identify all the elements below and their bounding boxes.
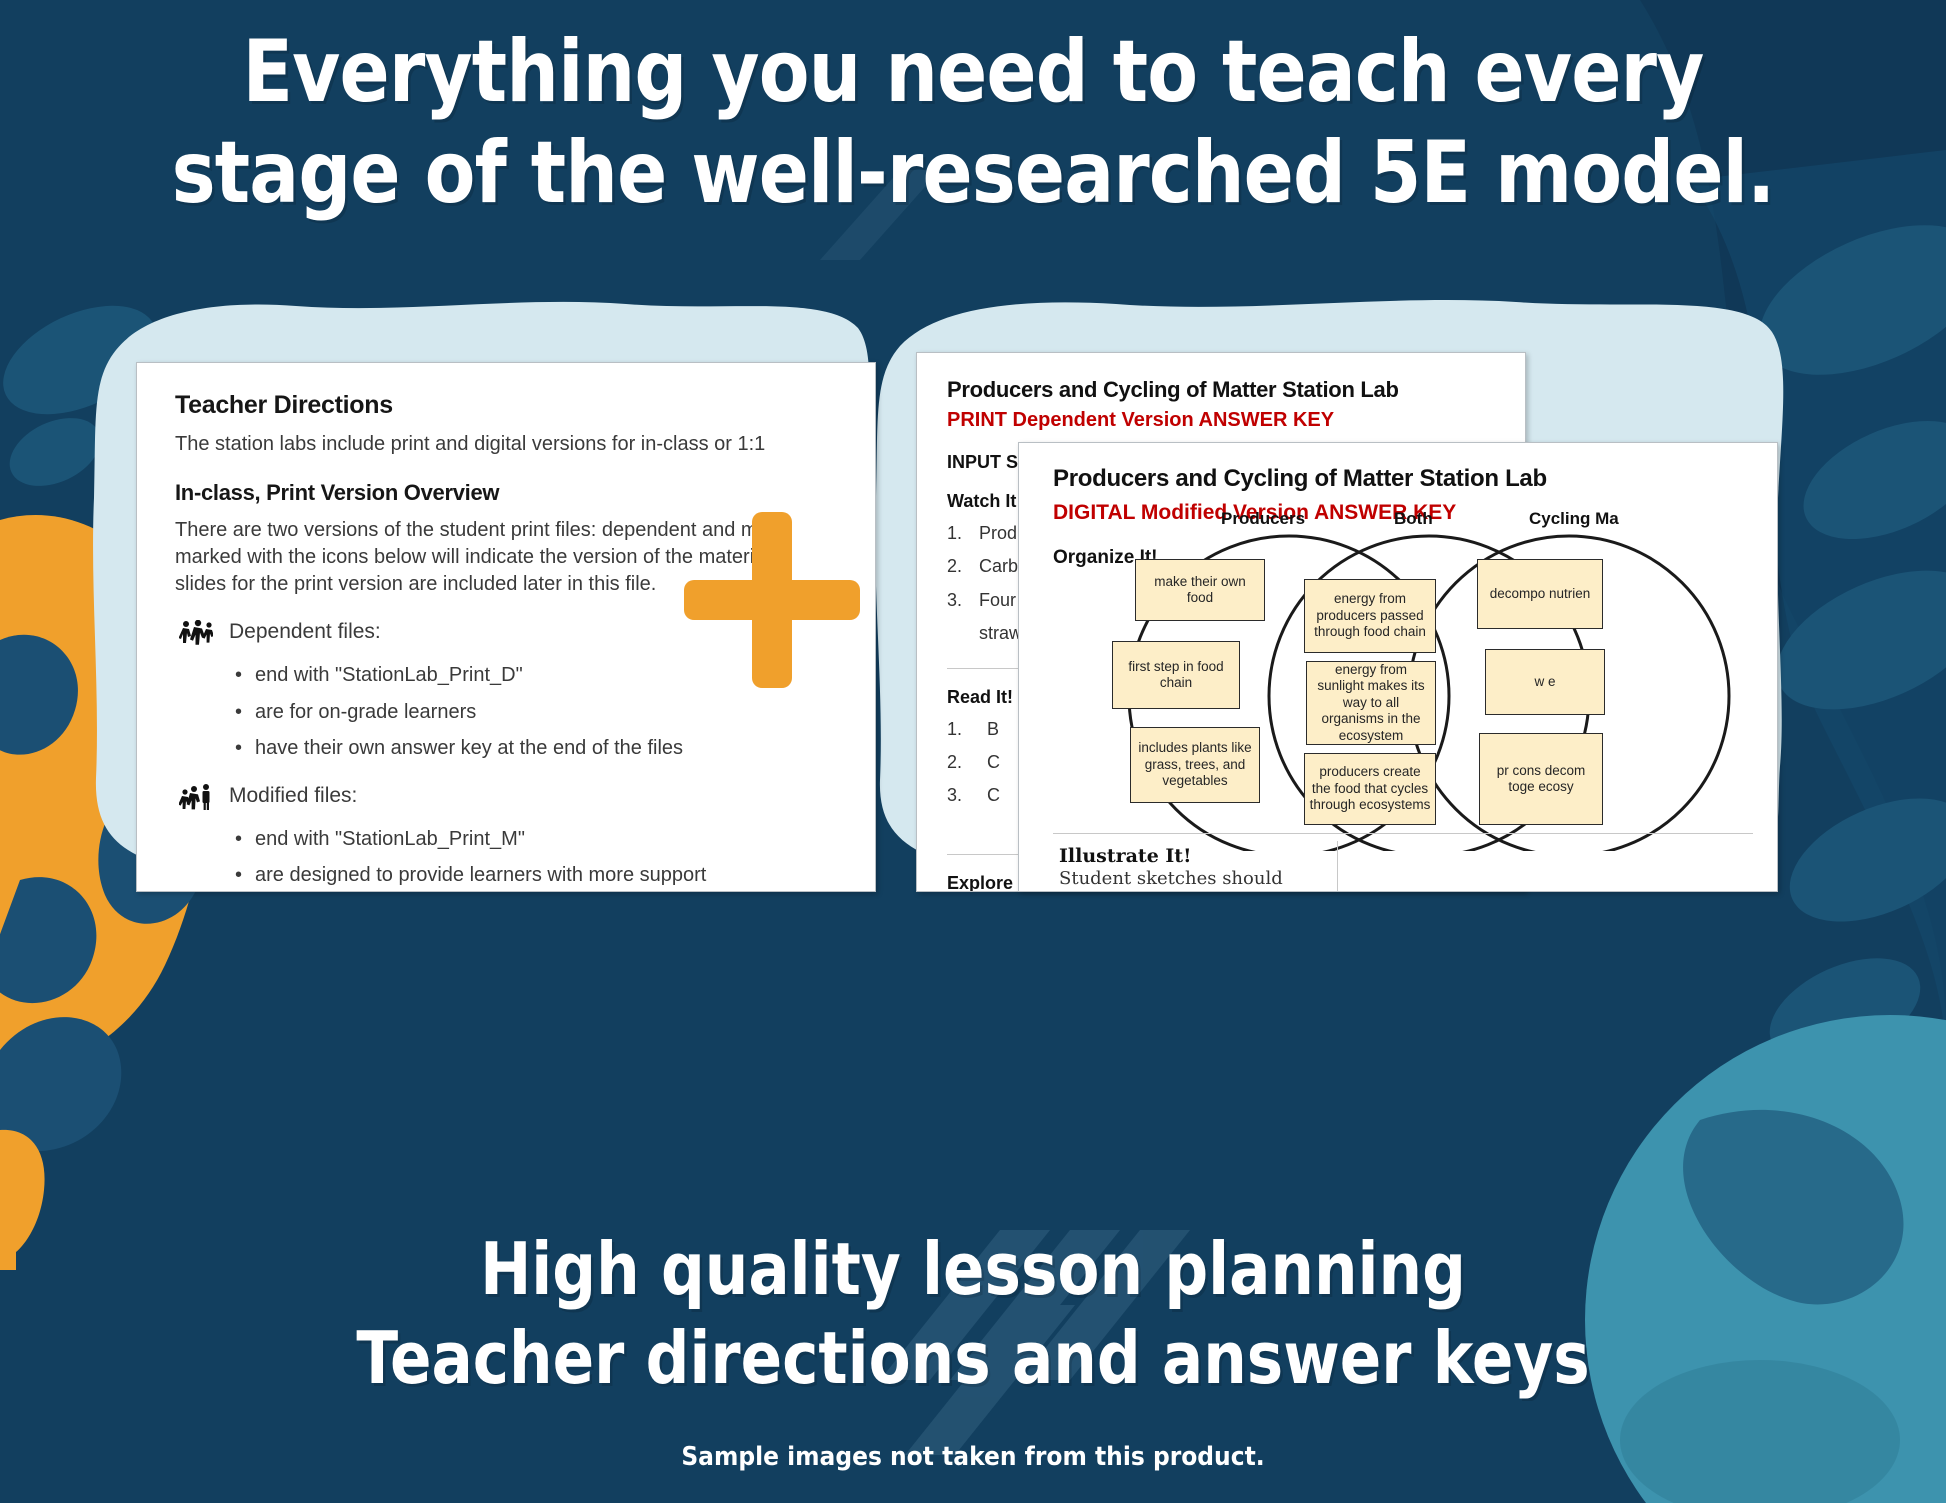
venn-box: decompo nutrien bbox=[1477, 559, 1603, 629]
venn-box: includes plants like grass, trees, and v… bbox=[1130, 727, 1260, 803]
digital-answer-key-document: Producers and Cycling of Matter Station … bbox=[1018, 442, 1778, 892]
print-key-subtitle: PRINT Dependent Version ANSWER KEY bbox=[947, 409, 1525, 432]
venn-box: energy from producers passed through foo… bbox=[1304, 579, 1436, 653]
venn-box: energy from sunlight makes its way to al… bbox=[1306, 661, 1436, 745]
venn-diagram: Producers Both Cycling Ma make their own… bbox=[1099, 521, 1759, 851]
venn-box: first step in food chain bbox=[1112, 641, 1240, 709]
headline-line-1: Everything you need to teach every bbox=[243, 22, 1704, 122]
teacher-and-student-glyph bbox=[179, 784, 213, 812]
item-number: 3. bbox=[947, 589, 969, 612]
venn-box: producers create the food that cycles th… bbox=[1304, 753, 1436, 825]
page-headline: Everything you need to teach every stage… bbox=[136, 22, 1810, 225]
venn-box: make their own food bbox=[1135, 559, 1265, 621]
modified-files-group: Modified files: end with "StationLab_Pri… bbox=[175, 784, 875, 892]
headline-line-2: stage of the well-researched 5E model. bbox=[136, 123, 1810, 224]
item-text: C bbox=[987, 784, 1000, 807]
poster-canvas: Everything you need to teach every stage… bbox=[0, 0, 1946, 1503]
digital-key-title: Producers and Cycling of Matter Station … bbox=[1053, 465, 1777, 493]
divider bbox=[1053, 833, 1753, 834]
plus-horizontal-bar bbox=[684, 580, 860, 620]
item-number: 1. bbox=[947, 718, 977, 741]
modified-files-label: Modified files: bbox=[229, 784, 357, 808]
teacher-doc-section-heading: In-class, Print Version Overview bbox=[175, 480, 875, 506]
disclaimer-text: Sample images not taken from this produc… bbox=[97, 1442, 1848, 1472]
illustrate-it-block: Illustrate It! Student sketches should d… bbox=[1059, 845, 1319, 892]
running-students-glyph bbox=[179, 620, 213, 648]
venn-label-cycling-matter: Cycling Ma bbox=[1529, 509, 1619, 529]
item-number bbox=[947, 622, 969, 645]
venn-box: w e bbox=[1485, 649, 1605, 715]
teacher-doc-title: Teacher Directions bbox=[175, 391, 875, 420]
list-item: have their own answer key at the end of … bbox=[233, 736, 875, 762]
bottom-headings: High quality lesson planning Teacher dir… bbox=[146, 1225, 1800, 1404]
plus-icon bbox=[684, 512, 860, 688]
print-key-title: Producers and Cycling of Matter Station … bbox=[947, 377, 1525, 403]
modified-files-list: end with "StationLab_Print_M" are design… bbox=[233, 827, 875, 892]
divider-vertical bbox=[1337, 841, 1338, 892]
item-text: B bbox=[987, 718, 999, 741]
illustrate-it-text: Student sketches should diagram how matt… bbox=[1059, 867, 1319, 892]
item-text: C bbox=[987, 751, 1000, 774]
venn-box: pr cons decom toge ecosy bbox=[1479, 733, 1603, 825]
subhead-line-2: Teacher directions and answer keys bbox=[146, 1314, 1800, 1403]
item-number: 2. bbox=[947, 751, 977, 774]
dependent-files-label: Dependent files: bbox=[229, 620, 381, 644]
teacher-and-student-icon bbox=[175, 784, 217, 816]
venn-label-both: Both bbox=[1394, 509, 1433, 529]
item-number: 3. bbox=[947, 784, 977, 807]
subhead-line-1: High quality lesson planning bbox=[146, 1225, 1800, 1314]
illustrate-it-label: Illustrate It! bbox=[1059, 845, 1319, 867]
running-students-icon bbox=[175, 620, 217, 652]
item-number: 2. bbox=[947, 555, 969, 578]
venn-label-producers: Producers bbox=[1221, 509, 1305, 529]
list-item: are designed to provide learners with mo… bbox=[233, 863, 875, 889]
teacher-doc-intro: The station labs include print and digit… bbox=[175, 431, 875, 458]
list-item: are for on-grade learners bbox=[233, 700, 875, 726]
list-item: end with "StationLab_Print_M" bbox=[233, 827, 875, 853]
item-number: 1. bbox=[947, 522, 969, 545]
